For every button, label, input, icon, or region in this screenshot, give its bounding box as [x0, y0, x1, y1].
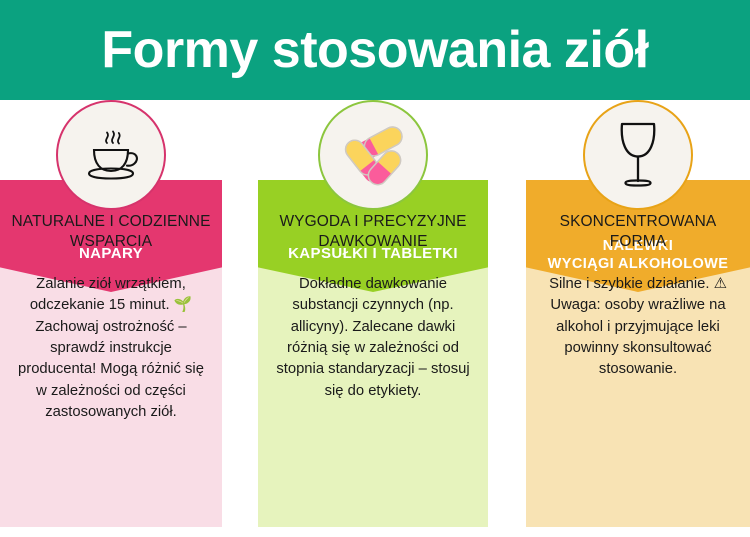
page-title: Formy stosowania ziół [101, 24, 648, 76]
wine-glass-icon [583, 100, 693, 210]
subtitle-napary: NATURALNE I CODZIENNE WSPARCIA [6, 212, 216, 252]
infographic-root: Formy stosowania ziół NAPARY [0, 0, 750, 537]
text-block-nalewki: SKONCENTROWANA FORMA Silne i szybkie dzi… [532, 212, 744, 381]
column-nalewki: NALEWKI WYCIĄGI ALKOHOLOWE [526, 100, 750, 537]
subtitle-nalewki: SKONCENTROWANA FORMA [532, 212, 744, 252]
teacup-icon [56, 100, 166, 210]
capsules-icon [318, 100, 428, 210]
header-banner: Formy stosowania ziół [0, 0, 750, 100]
body-text-nalewki: Silne i szybkie działanie. ⚠ Uwaga: osob… [532, 274, 744, 381]
text-block-kapsulki: WYGODA I PRECYZYJNE DAWKOWANIE Dokładne … [264, 212, 482, 402]
subtitle-kapsulki: WYGODA I PRECYZYJNE DAWKOWANIE [264, 212, 482, 252]
text-block-napary: NATURALNE I CODZIENNE WSPARCIA Zalanie z… [6, 212, 216, 424]
columns-container: NAPARY [0, 100, 750, 537]
column-kapsulki-i-tabletki: KAPSUŁKI I TABLETKI [258, 100, 488, 537]
body-text-kapsulki: Dokładne dawkowanie substancji czynnych … [264, 274, 482, 403]
body-text-napary: Zalanie ziół wrzątkiem, odczekanie 15 mi… [6, 274, 216, 424]
column-napary: NAPARY [0, 100, 222, 537]
